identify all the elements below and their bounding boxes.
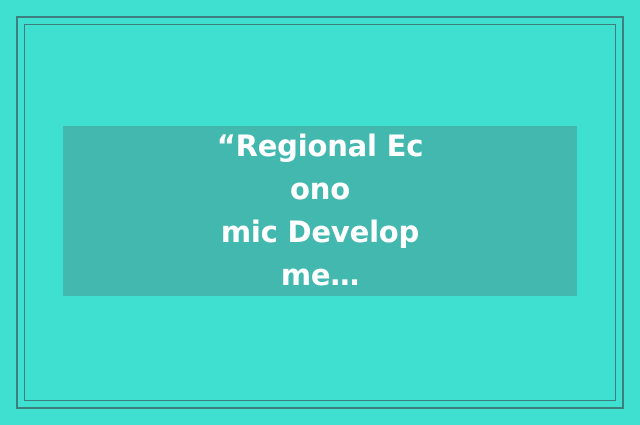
quote-panel: “Regional Econo mic Developme… — [63, 126, 577, 296]
quote-text: “Regional Econo mic Developme… — [213, 125, 428, 297]
quote-card-canvas: “Regional Econo mic Developme… — [0, 0, 640, 425]
